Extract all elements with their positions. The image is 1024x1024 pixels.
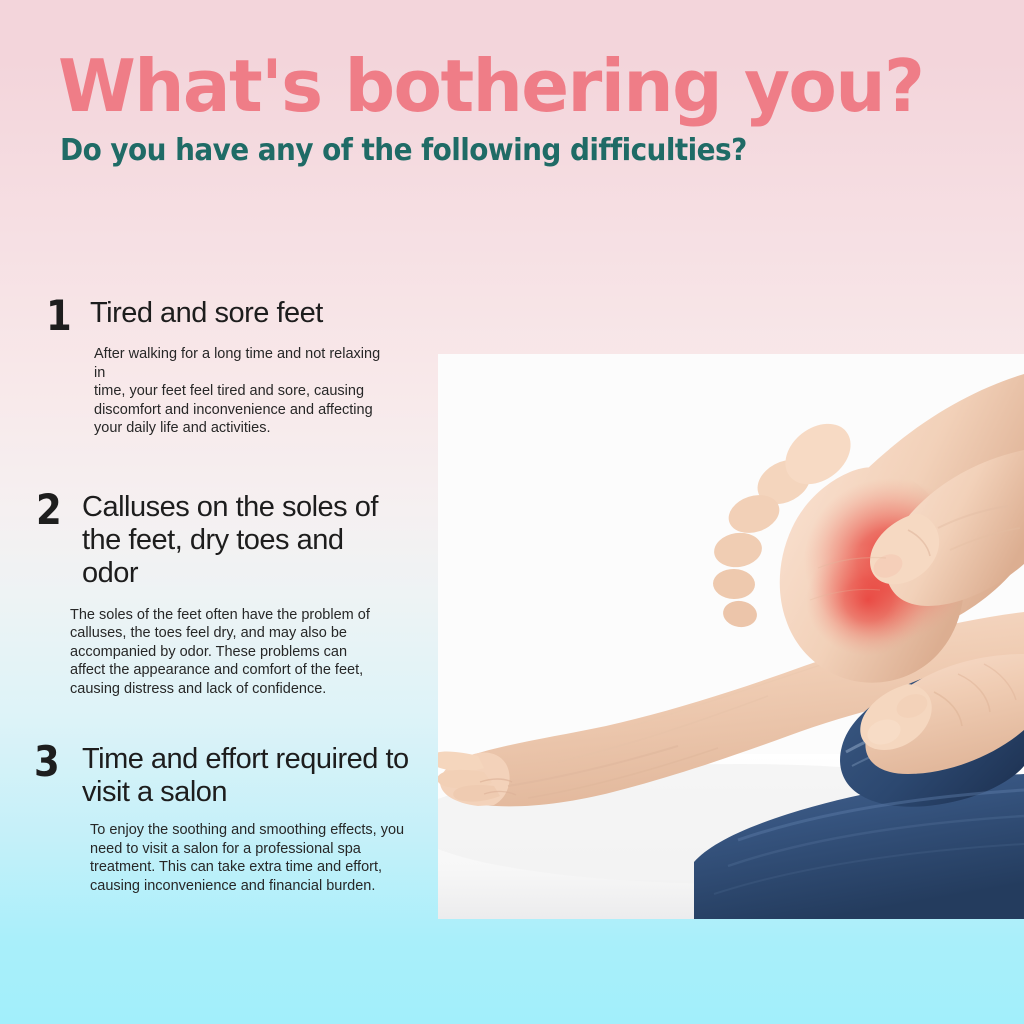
header: What's bothering you? Do you have any of… [58,52,968,167]
body-line: calluses, the toes feel dry, and may als… [70,624,370,643]
list-item-heading: 2 Calluses on the soles of the feet, dry… [36,490,446,590]
list-item-number: 3 [34,742,64,782]
page-title: What's bothering you? [58,52,950,121]
foot-pain-illustration [438,354,1024,919]
page-subtitle: Do you have any of the following difficu… [60,135,904,167]
body-line: To enjoy the soothing and smoothing effe… [90,821,410,840]
list-item: 1 Tired and sore feet After walking for … [46,296,446,438]
body-line: causing distress and lack of confidence. [70,680,370,699]
list-item-number: 2 [36,490,66,530]
body-line: your daily life and activities. [94,419,394,438]
body-line: The soles of the feet often have the pro… [70,606,370,625]
body-line: discomfort and inconvenience and affecti… [94,401,394,420]
body-line: accompanied by odor. These problems can [70,643,370,662]
body-line: treatment. This can take extra time and … [90,858,410,877]
list-item-body: To enjoy the soothing and smoothing effe… [90,821,410,895]
list-item: 3 Time and effort required to visit a sa… [34,742,446,895]
list-item-title: Calluses on the soles of the feet, dry t… [82,491,382,590]
body-line: need to visit a salon for a professional… [90,840,410,859]
list-item-number: 1 [46,296,76,336]
list-item: 2 Calluses on the soles of the feet, dry… [36,490,446,699]
list-item-title: Tired and sore feet [90,297,323,330]
foot-pain-photo [438,354,1024,919]
list-item-heading: 3 Time and effort required to visit a sa… [34,742,446,809]
body-line: causing inconvenience and financial burd… [90,877,410,896]
list-item-body: After walking for a long time and not re… [94,345,394,438]
body-line: After walking for a long time and not re… [94,345,394,382]
body-line: affect the appearance and comfort of the… [70,661,370,680]
list-item-title: Time and effort required to visit a salo… [82,743,412,809]
difficulty-list: 1 Tired and sore feet After walking for … [46,296,446,895]
list-item-heading: 1 Tired and sore feet [46,296,446,336]
poster-canvas: What's bothering you? Do you have any of… [0,0,1024,1024]
list-item-body: The soles of the feet often have the pro… [70,606,370,699]
body-line: time, your feet feel tired and sore, cau… [94,382,394,401]
